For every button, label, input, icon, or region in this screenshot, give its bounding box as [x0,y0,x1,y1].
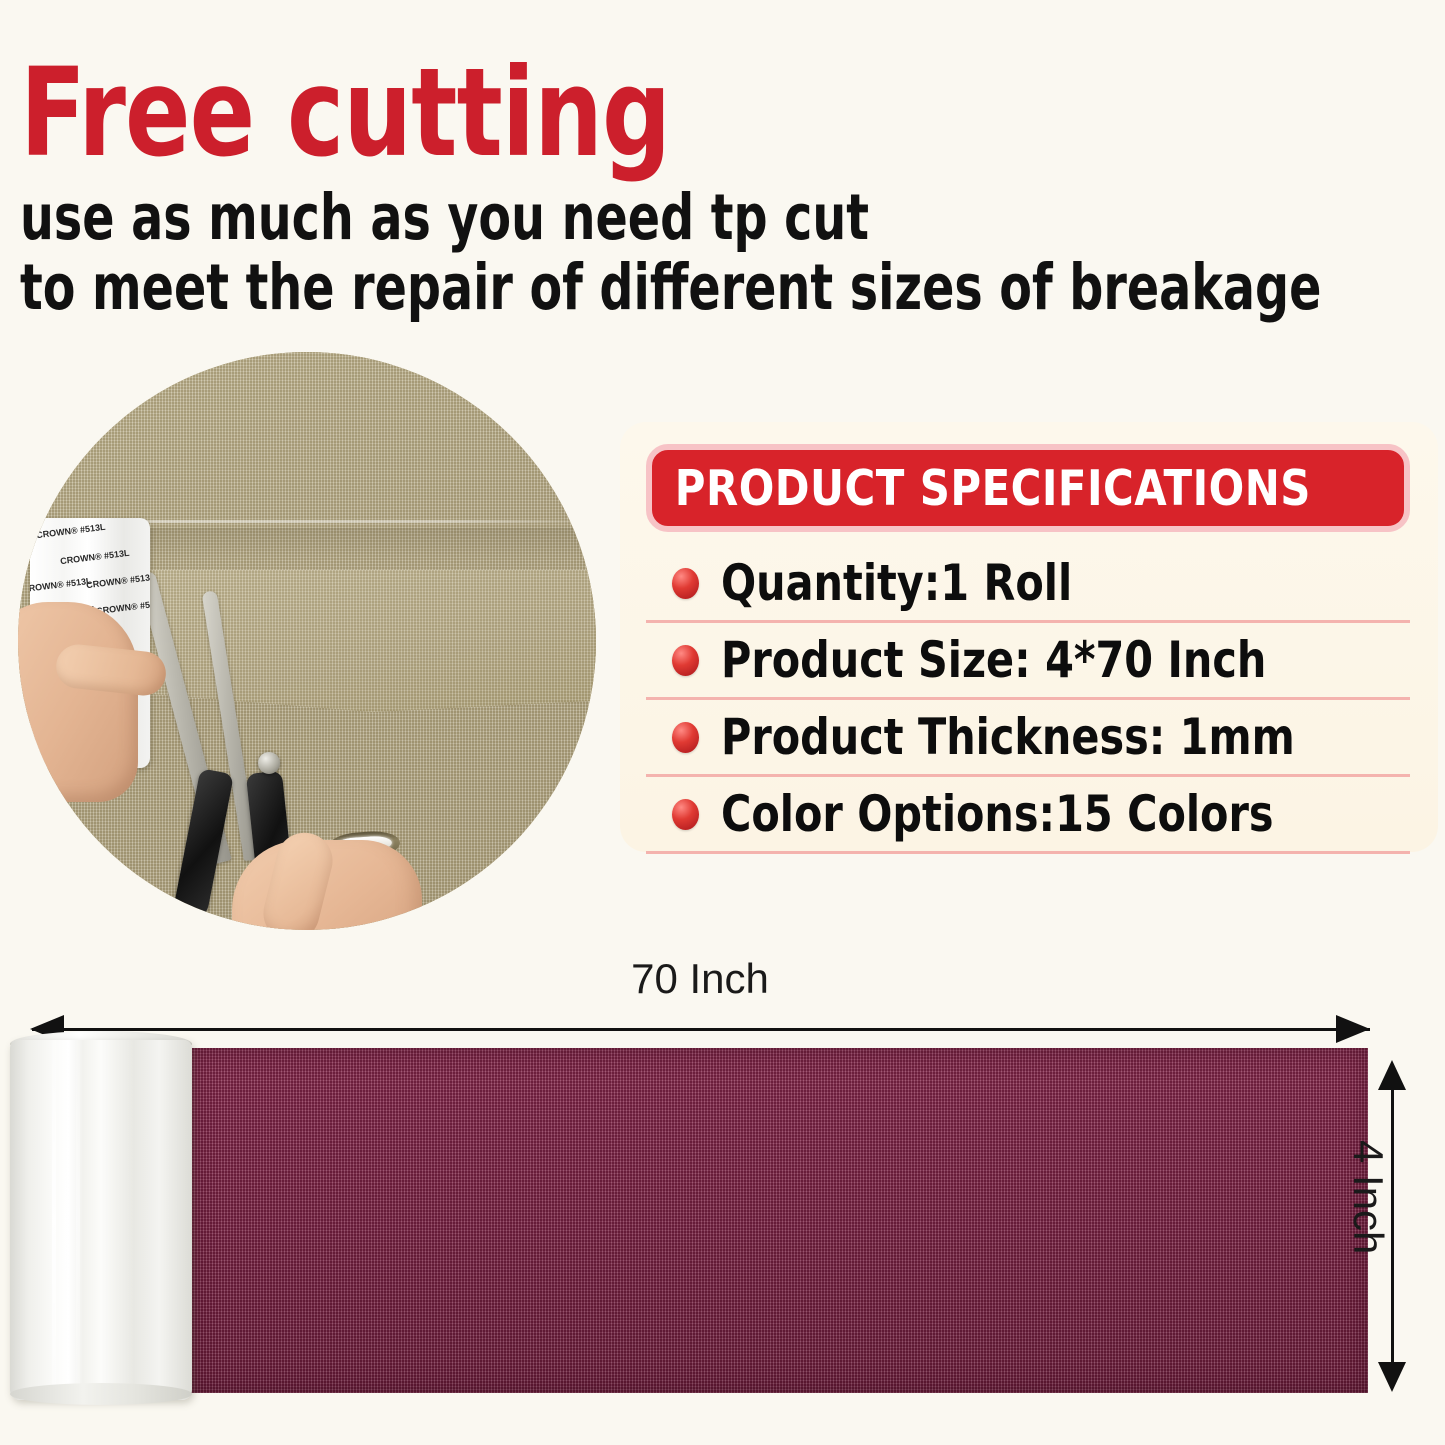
specifications-list: Quantity:1 Roll Product Size: 4*70 Inch … [646,546,1410,854]
roll-label-text: CROWN® #513L [30,576,92,594]
infographic-canvas: Free cutting use as much as you need tp … [0,0,1445,1445]
tape-roll-bottom-ellipse [10,1383,192,1405]
length-dimension-label: 70 Inch [0,955,1400,1003]
cutting-demo-photo: CROWN® #513L CROWN® #513L CROWN® #513L C… [18,352,596,930]
page-title: Free cutting [20,52,670,174]
list-item: Product Size: 4*70 Inch [646,623,1410,700]
spec-size-label: Product Size: 4*70 Inch [721,631,1266,689]
spec-color-options-label: Color Options:15 Colors [721,785,1274,843]
list-item: Product Thickness: 1mm [646,700,1410,777]
arrow-up-icon [1378,1060,1406,1090]
hand-holding-roll [18,602,138,802]
bullet-icon [672,645,699,676]
length-dimension-line [32,1028,1370,1031]
arrow-down-icon [1378,1362,1406,1392]
tape-roll-product [10,1040,192,1400]
list-item: Quantity:1 Roll [646,546,1410,623]
list-item: Color Options:15 Colors [646,777,1410,854]
roll-label-text: CROWN® #513L [60,548,130,566]
roll-label-text: CROWN® #513L [86,572,150,590]
bullet-icon [672,722,699,753]
roll-gloss-highlight [64,1040,68,1400]
burgundy-fabric-strip [188,1048,1368,1393]
bullet-icon [672,799,699,830]
spec-thickness-label: Product Thickness: 1mm [721,708,1295,766]
subtitle-line-2: to meet the repair of different sizes of… [20,256,1321,319]
width-dimension-label: 4 Inch [1344,1140,1392,1340]
scissors-pivot-screw [258,752,280,774]
spec-quantity-label: Quantity:1 Roll [721,554,1072,612]
cut-fabric-flap [128,570,596,712]
subtitle-line-1: use as much as you need tp cut [20,186,869,249]
roll-label-text: CROWN® #513L [36,522,106,540]
roll-gloss-highlight [76,1040,80,1400]
roll-gloss-highlight [52,1040,56,1400]
specifications-header-badge: PRODUCT SPECIFICATIONS [646,444,1410,532]
specifications-header-label: PRODUCT SPECIFICATIONS [652,460,1311,517]
arrow-right-icon [1336,1015,1370,1043]
bullet-icon [672,568,699,599]
